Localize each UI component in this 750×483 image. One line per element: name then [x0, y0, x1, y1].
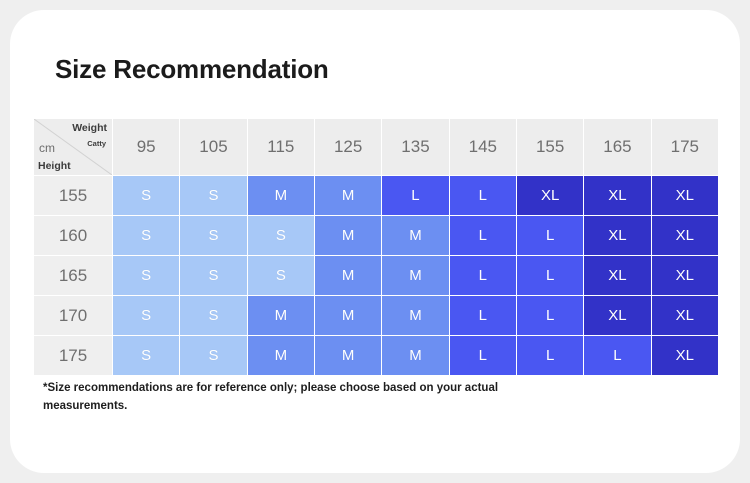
size-cell: XL — [584, 296, 650, 335]
size-cell: S — [113, 256, 179, 295]
size-cell: M — [248, 336, 314, 375]
size-cell: XL — [584, 176, 650, 215]
height-header-175: 175 — [34, 336, 112, 375]
height-header-165: 165 — [34, 256, 112, 295]
size-cell: L — [584, 336, 650, 375]
size-cell: S — [180, 176, 246, 215]
table-body: 155SSMMLLXLXLXL160SSSMMLLXLXL165SSSMMLLX… — [34, 176, 718, 375]
size-cell: S — [180, 336, 246, 375]
size-cell: XL — [652, 256, 718, 295]
size-cell: L — [382, 176, 448, 215]
table-header-row: Weight Catty cm Height 95 105 115 125 13… — [34, 119, 718, 175]
table-row: 160SSSMMLLXLXL — [34, 216, 718, 255]
size-cell: XL — [584, 216, 650, 255]
size-cell: XL — [517, 176, 583, 215]
size-cell: XL — [652, 336, 718, 375]
weight-header-115: 115 — [248, 119, 314, 175]
weight-header-135: 135 — [382, 119, 448, 175]
size-cell: S — [248, 216, 314, 255]
weight-unit-label: Catty — [87, 140, 106, 148]
size-cell: L — [450, 216, 516, 255]
size-cell: S — [113, 336, 179, 375]
size-cell: L — [450, 176, 516, 215]
size-cell: L — [450, 296, 516, 335]
size-cell: S — [113, 216, 179, 255]
size-cell: L — [517, 296, 583, 335]
size-cell: M — [248, 296, 314, 335]
footnote-text: *Size recommendations are for reference … — [43, 380, 583, 416]
height-axis-label: Height — [38, 161, 71, 172]
table-row: 170SSMMMLLXLXL — [34, 296, 718, 335]
size-cell: L — [517, 256, 583, 295]
weight-header-175: 175 — [652, 119, 718, 175]
weight-header-95: 95 — [113, 119, 179, 175]
size-cell: M — [248, 176, 314, 215]
weight-header-105: 105 — [180, 119, 246, 175]
size-cell: M — [382, 296, 448, 335]
weight-header-145: 145 — [450, 119, 516, 175]
size-recommendation-table: Weight Catty cm Height 95 105 115 125 13… — [33, 118, 719, 376]
size-cell: XL — [652, 216, 718, 255]
size-cell: M — [315, 296, 381, 335]
weight-header-125: 125 — [315, 119, 381, 175]
table-row: 155SSMMLLXLXLXL — [34, 176, 718, 215]
size-cell: M — [382, 336, 448, 375]
page-title: Size Recommendation — [55, 54, 329, 85]
size-cell: S — [180, 256, 246, 295]
size-cell: XL — [652, 296, 718, 335]
size-cell: S — [180, 296, 246, 335]
size-recommendation-card: Size Recommendation Weight Catty cm Heig… — [10, 10, 740, 473]
height-header-155: 155 — [34, 176, 112, 215]
size-cell: M — [382, 216, 448, 255]
size-cell: M — [315, 336, 381, 375]
size-cell: L — [450, 256, 516, 295]
weight-header-155: 155 — [517, 119, 583, 175]
size-cell: L — [517, 216, 583, 255]
size-cell: S — [113, 296, 179, 335]
table-row: 165SSSMMLLXLXL — [34, 256, 718, 295]
size-cell: L — [450, 336, 516, 375]
size-cell: XL — [652, 176, 718, 215]
size-cell: S — [113, 176, 179, 215]
weight-header-165: 165 — [584, 119, 650, 175]
size-cell: XL — [584, 256, 650, 295]
size-cell: S — [248, 256, 314, 295]
table-row: 175SSMMMLLLXL — [34, 336, 718, 375]
size-cell: M — [315, 216, 381, 255]
size-cell: M — [382, 256, 448, 295]
height-header-160: 160 — [34, 216, 112, 255]
size-cell: M — [315, 256, 381, 295]
weight-axis-label: Weight — [72, 123, 107, 134]
height-unit-label: cm — [39, 142, 55, 154]
corner-header-cell: Weight Catty cm Height — [34, 119, 112, 175]
size-cell: L — [517, 336, 583, 375]
height-header-170: 170 — [34, 296, 112, 335]
size-cell: S — [180, 216, 246, 255]
size-cell: M — [315, 176, 381, 215]
